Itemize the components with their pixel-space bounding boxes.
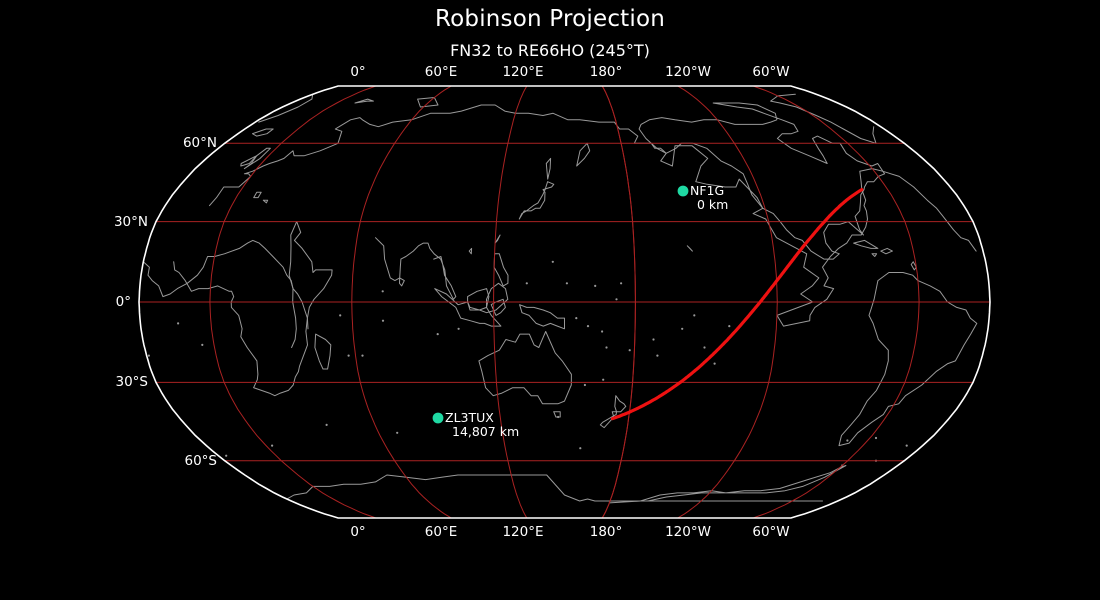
coastline-segment [263, 200, 267, 203]
graticule-layer [139, 86, 990, 518]
island-dot [177, 322, 179, 324]
coastline-segment [400, 278, 405, 286]
island-dot [681, 328, 683, 330]
coastline-segment [241, 156, 257, 166]
island-dot [271, 445, 273, 447]
station-marker-nf1g[interactable] [678, 186, 689, 197]
island-dot [906, 445, 908, 447]
island-dot [714, 363, 716, 365]
island-dot [620, 282, 622, 284]
coastline-segment [479, 332, 572, 404]
coastline-segment [872, 254, 877, 257]
x-tick-top-2: 180° [590, 64, 623, 80]
coastline-segment [615, 396, 626, 412]
station-marker-zl3tux[interactable] [433, 413, 444, 424]
x-tick-bottom-3: 120°W [665, 524, 711, 540]
coastline-segment [494, 254, 508, 286]
station-label-nf1g-distance: 0 km [690, 198, 728, 212]
island-dot [437, 333, 439, 335]
coastline-segment [418, 98, 438, 108]
coastline-segment [174, 222, 332, 396]
coastline-segment [376, 238, 456, 300]
island-dot [615, 298, 617, 300]
island-dot [728, 325, 730, 327]
island-dot [575, 317, 577, 319]
great-circle-path [613, 190, 862, 419]
island-dot [652, 338, 654, 340]
island-dot [382, 320, 384, 322]
station-label-nf1g-name: NF1G [690, 183, 724, 198]
coastline-segment [577, 143, 590, 166]
station-label-zl3tux-name: ZL3TUX [445, 410, 494, 425]
y-tick-2: 0° [116, 294, 131, 310]
y-tick-3: 30°S [116, 374, 149, 390]
island-dot [579, 447, 581, 449]
coastline-segment [639, 103, 885, 259]
x-tick-top-4: 60°W [752, 64, 789, 80]
coastline-segment [839, 273, 977, 446]
y-tick-4: 60°S [185, 453, 218, 469]
island-dot [605, 346, 607, 348]
station-label-nf1g: NF1G 0 km [690, 184, 728, 212]
coastline-segment [546, 158, 550, 179]
island-dot [846, 439, 848, 441]
x-tick-bottom-1: 120°E [502, 524, 543, 540]
island-dot [326, 424, 328, 426]
path-line [613, 190, 862, 419]
coastline-segment [687, 246, 692, 251]
island-dot [693, 314, 695, 316]
map-figure: Robinson Projection FN32 to RE66HO (245°… [0, 0, 1100, 600]
island-dot [348, 355, 350, 357]
coastline-segment [881, 248, 893, 253]
coastline-segment [259, 94, 876, 143]
coastline-segment [143, 105, 976, 329]
x-tick-bottom-2: 180° [590, 524, 623, 540]
island-dot [602, 379, 604, 381]
station-label-zl3tux-distance: 14,807 km [445, 425, 519, 439]
coastline-segment [519, 182, 554, 219]
island-dot [396, 432, 398, 434]
x-tick-top-3: 120°W [665, 64, 711, 80]
island-dot [584, 384, 586, 386]
island-dot [557, 416, 559, 418]
coastline-segment [355, 99, 373, 103]
y-tick-1: 30°N [114, 214, 148, 230]
coastline-segment [554, 412, 561, 417]
x-tick-bottom-0: 60°E [425, 524, 457, 540]
x-tick-top-5: 0° [350, 64, 365, 80]
x-tick-top-0: 60°E [425, 64, 457, 80]
island-dot [201, 344, 203, 346]
island-dot [458, 328, 460, 330]
x-tick-top-1: 120°E [502, 64, 543, 80]
coastline-segment [253, 129, 274, 136]
island-dot [148, 355, 150, 357]
coastline-segment [435, 283, 508, 326]
station-label-zl3tux: ZL3TUX 14,807 km [445, 411, 519, 439]
island-dot [225, 455, 227, 457]
coastline-segment [287, 475, 823, 501]
island-dot [566, 282, 568, 284]
coastline-segment [254, 192, 262, 197]
x-tick-bottom-4: 60°W [752, 524, 789, 540]
coastline-segment [469, 248, 471, 253]
y-tick-0: 60°N [183, 135, 217, 151]
island-dot [594, 285, 596, 287]
coastline-segment [315, 334, 331, 369]
coastline-segment [520, 305, 565, 329]
island-dot [552, 261, 554, 263]
coastline-segment [854, 240, 878, 248]
island-dot [361, 355, 363, 357]
island-dot [526, 282, 528, 284]
coastline-segment [468, 289, 489, 310]
island-dot [601, 330, 603, 332]
island-dot [629, 349, 631, 351]
island-dot [587, 325, 589, 327]
island-dot [703, 346, 705, 348]
island-dot [382, 290, 384, 292]
island-dot [339, 314, 341, 316]
island-dot [656, 355, 658, 357]
island-dot [875, 437, 877, 439]
world-map [0, 0, 1100, 600]
x-tick-bottom-5: 0° [350, 524, 365, 540]
